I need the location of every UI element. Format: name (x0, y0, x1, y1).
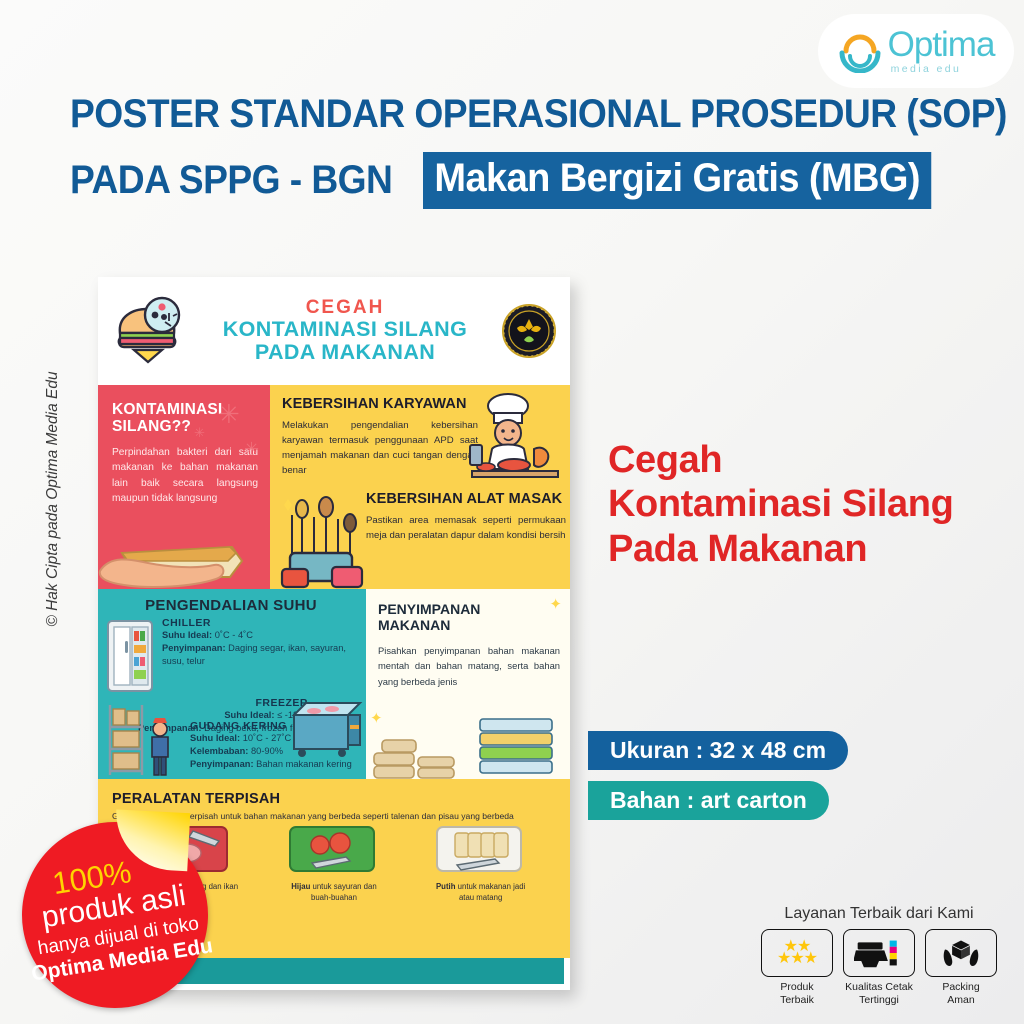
chef-cooking-icon (462, 393, 566, 489)
service-caption-2-l2: Aman (947, 994, 974, 1006)
poster-row-top: ✳ ✳ ✳ KONTAMINASI SILANG?? Perpindahan b… (98, 385, 570, 589)
circular-swoosh-icon (838, 29, 882, 73)
cooking-utensils-icon (272, 487, 376, 589)
storage-title-l1: PENYIMPANAN (378, 601, 480, 617)
panel-kontaminasi-silang: ✳ ✳ ✳ KONTAMINASI SILANG?? Perpindahan b… (98, 385, 270, 589)
board-caption-1: untuk sayuran dan buah-buahan (310, 882, 376, 902)
bgn-emblem-icon (502, 304, 556, 358)
service-caption-1-l1: Kualitas Cetak (845, 981, 913, 993)
marketing-line-1: Cegah (608, 438, 1008, 482)
dry-temp-value: 10˚C - 27˚C (243, 733, 292, 743)
service-caption-1-l2: Tertinggi (859, 994, 899, 1006)
panel-kebersihan: KEBERSIHAN KARYAWAN Melakukan pengendali… (270, 385, 570, 589)
list-item: Hijau untuk sayuran dan buah-buahan (282, 823, 386, 903)
board-color-1: Hijau (291, 882, 310, 891)
title-line-2: PADA SPPG - BGN (70, 158, 392, 203)
poster-header-cegah: CEGAH (306, 297, 385, 318)
storage-body: Pisahkan penyimpanan bahan makanan menta… (378, 643, 560, 689)
brand-subtitle: media edu (891, 64, 962, 75)
yellow-block2-body: Pastikan area memasak seperti permukaan … (366, 514, 566, 544)
printer-cmyk-icon (843, 929, 915, 977)
title-line-1: POSTER STANDAR OPERASIONAL PROSEDUR (SOP… (70, 92, 1007, 137)
dry-store-value: Bahan makanan kering (256, 759, 352, 769)
title-badge: Makan Bergizi Gratis (MBG) (423, 152, 931, 209)
temp-panel-title: PENGENDALIAN SUHU (104, 597, 358, 614)
yellow-block1-body: Melakukan pengendalian kebersihan karyaw… (282, 419, 478, 478)
panel-penyimpanan-makanan: PENYIMPANAN MAKANAN ✦ ✦ Pisahkan penyimp… (366, 589, 570, 779)
panel-pengendalian-suhu: PENGENDALIAN SUHU CHILLER (98, 589, 366, 779)
marketing-headline: Cegah Kontaminasi Silang Pada Makanan (608, 438, 1008, 571)
germ-icon: ✳ (218, 399, 240, 430)
page-title: POSTER STANDAR OPERASIONAL PROSEDUR (SOP… (70, 92, 990, 137)
hands-holding-box-icon (925, 929, 997, 977)
red-panel-body: Perpindahan bakteri dari satu makanan ke… (112, 445, 258, 507)
product-listing-canvas: Optima media edu POSTER STANDAR OPERASIO… (0, 0, 1024, 1024)
brand-logo: Optima media edu (818, 14, 1014, 88)
board-caption-2: untuk makanan jadi atau matang (455, 882, 525, 902)
sparkle-icon: ✦ (549, 595, 562, 613)
spec-ribbon-size: Ukuran : 32 x 48 cm (588, 731, 848, 770)
service-caption-2-l1: Packing (942, 981, 979, 993)
dry-hum-value: 80-90% (251, 746, 283, 756)
stacked-trays-icon (472, 713, 568, 779)
spec-ribbon-material: Bahan : art carton (588, 781, 829, 820)
dry-temp-label: Suhu Ideal: (190, 733, 240, 743)
white-cutting-board-bread-icon (429, 823, 533, 875)
list-item: ★★★★★ Produk Terbaik (761, 929, 833, 1007)
dry-hum-label: Kelembaban: (190, 746, 248, 756)
service-caption-0-l1: Produk (780, 981, 813, 993)
hands-holding-bread-icon (98, 513, 270, 589)
dry-store-label: Penyimpanan: (190, 759, 254, 769)
chiller-temp-label: Suhu Ideal: (162, 630, 212, 640)
service-title: Layanan Terbaik dari Kami (754, 905, 1004, 923)
freezer-temp-label: Suhu Ideal: (224, 710, 274, 720)
copyright-vertical: © Hak Cipta pada Optima Media Edu (44, 334, 62, 664)
chiller-fridge-icon (104, 619, 156, 693)
yellow-block2-title: KEBERSIHAN ALAT MASAK (366, 492, 566, 508)
chiller-name: CHILLER (162, 617, 352, 629)
germ-icon: ✳ (194, 425, 205, 441)
germ-icon: ✳ (244, 439, 259, 460)
yellow-block1-title: KEBERSIHAN KARYAWAN (282, 397, 478, 413)
marketing-line-3: Pada Makanan (608, 527, 1008, 571)
poster-header-line2: KONTAMINASI SILANG (223, 317, 468, 341)
marketing-line-2: Kontaminasi Silang (608, 482, 1008, 526)
poster-header-line3: PADA MAKANAN (255, 340, 435, 364)
board-color-2: Putih (436, 882, 456, 891)
green-cutting-board-vegetable-icon (282, 823, 386, 875)
list-item: Kualitas Cetak Tertinggi (843, 929, 915, 1007)
list-item: Packing Aman (925, 929, 997, 1007)
list-item: Putih untuk makanan jadi atau matang (429, 823, 533, 903)
tools-title: PERALATAN TERPISAH (112, 791, 558, 807)
dry-store-name: GUDANG KERING (190, 720, 360, 732)
stacked-sacks-icon (368, 723, 468, 779)
storage-title-l2: MAKANAN (378, 617, 450, 633)
warehouse-rack-worker-icon (102, 701, 186, 777)
chiller-temp-value: 0˚C - 4˚C (215, 630, 253, 640)
five-stars-icon: ★★★★★ (761, 929, 833, 977)
poster-header: CEGAH KONTAMINASI SILANG PADA MAKANAN (98, 277, 570, 385)
service-caption-0-l2: Terbaik (780, 994, 814, 1006)
service-badges: Layanan Terbaik dari Kami ★★★★★ Produk T… (754, 905, 1004, 1007)
burger-bacteria-icon (110, 295, 188, 367)
brand-name: Optima (888, 27, 995, 62)
poster-row-middle: PENGENDALIAN SUHU CHILLER (98, 589, 570, 779)
chiller-store-label: Penyimpanan: (162, 643, 226, 653)
